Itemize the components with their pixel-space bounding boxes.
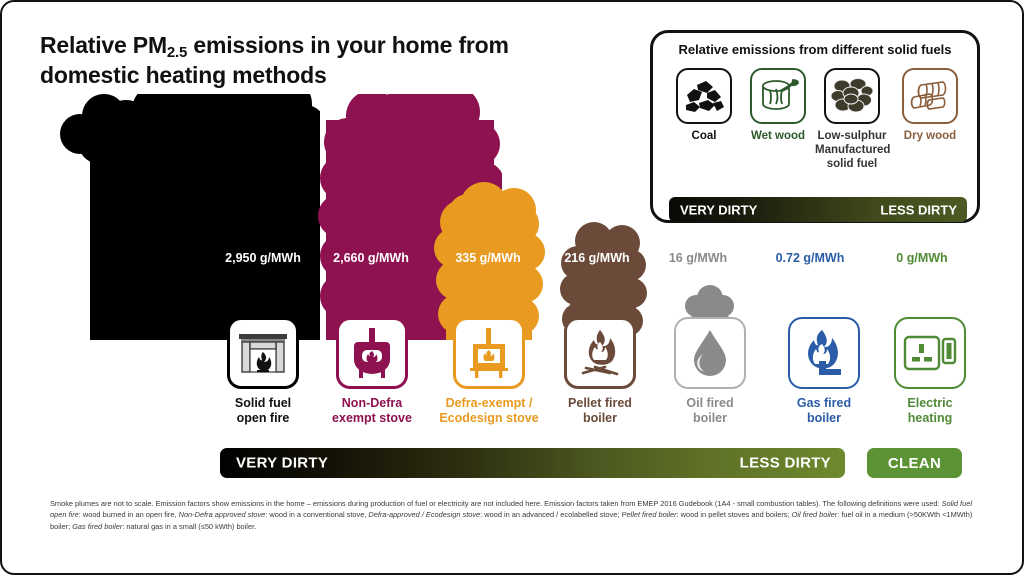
label-line2: boiler (693, 411, 727, 425)
footnote-i2: Non-Defra approved stove (179, 510, 266, 519)
legend-label-wet-wood: Wet wood (741, 130, 815, 144)
legend-very-dirty-label: VERY DIRTY (680, 202, 757, 217)
wet-log-icon (757, 77, 799, 115)
value-open-fire: 2,950 g/MWh (220, 251, 306, 265)
appliance-label-ecodesign: Defra-exempt / Ecodesign stove (430, 396, 548, 427)
scale-very-dirty-label: VERY DIRTY (236, 455, 328, 472)
label-line1: Dry wood (904, 130, 956, 142)
coal-tile (676, 68, 732, 124)
infographic-canvas: Relative PM2.5 emissions in your home fr… (0, 0, 1024, 575)
low-sulphur-tile (824, 68, 880, 124)
label-line1: Non-Defra (342, 396, 402, 410)
label-line1: Electric (907, 396, 952, 410)
plume-open-fire (30, 90, 320, 340)
oil-droplet-icon (690, 328, 730, 378)
fireplace-tile (227, 317, 299, 389)
label-line2: open fire (237, 411, 290, 425)
appliance-label-electric: Electric heating (890, 396, 970, 427)
label-line1: Defra-exempt / (446, 396, 533, 410)
footnote: Smoke plumes are not to scale. Emission … (50, 498, 978, 532)
legend-item-low-sulphur[interactable]: Low-sulphur Manufactured solid fuel (815, 68, 889, 171)
title-line1-post: emissions in your home from (187, 32, 509, 58)
label-line1: Solid fuel (235, 396, 291, 410)
value-non-defra: 2,660 g/MWh (328, 251, 414, 265)
fireplace-icon (237, 330, 289, 376)
label-line1: Pellet fired (568, 396, 632, 410)
wet-wood-tile (750, 68, 806, 124)
appliance-solid-fuel-open-fire[interactable]: Solid fuel open fire (223, 317, 303, 427)
appliance-non-defra-stove[interactable]: Non-Defra exempt stove (332, 317, 412, 427)
title-line1-pre: Relative PM (40, 32, 167, 58)
appliance-label-open-fire: Solid fuel open fire (223, 396, 303, 427)
oil-tile (674, 317, 746, 389)
label-line2: boiler (807, 411, 841, 425)
appliance-oil-boiler[interactable]: Oil fired boiler (670, 317, 750, 427)
legend-dirtiness-bar: VERY DIRTY LESS DIRTY (669, 197, 967, 222)
footnote-p1: Smoke plumes are not to scale. Emission … (50, 499, 942, 508)
gas-flame-icon (802, 328, 846, 378)
page-title: Relative PM2.5 emissions in your home fr… (40, 30, 600, 91)
campfire-icon (577, 328, 623, 378)
legend-item-coal[interactable]: Coal (667, 68, 741, 144)
stove-icon (348, 328, 396, 378)
appliance-label-non-defra: Non-Defra exempt stove (320, 396, 424, 427)
footnote-p3: : wood in a conventional stove, (265, 510, 368, 519)
appliance-pellet-boiler[interactable]: Pellet fired boiler (560, 317, 640, 427)
label-line2: Manufactured (815, 144, 890, 156)
coal-lumps-icon (683, 79, 725, 113)
label-line1: Wet wood (751, 130, 805, 142)
footnote-p7: : natural gas in a small (≤50 kWth) boil… (122, 522, 256, 531)
legend-item-wet-wood[interactable]: Wet wood (741, 68, 815, 144)
label-line2: heating (908, 411, 952, 425)
ecodesign-stove-icon (465, 328, 513, 378)
ecodesign-stove-tile (453, 317, 525, 389)
legend-item-dry-wood[interactable]: Dry wood (893, 68, 967, 144)
appliance-label-gas: Gas fired boiler (784, 396, 864, 427)
label-line2: exempt stove (332, 411, 412, 425)
appliance-gas-boiler[interactable]: Gas fired boiler (784, 317, 864, 427)
appliance-electric-heating[interactable]: Electric heating (890, 317, 970, 427)
appliance-label-oil: Oil fired boiler (670, 396, 750, 427)
label-line1: Low-sulphur (818, 130, 887, 142)
footnote-i6: Gas fired boiler (72, 522, 122, 531)
label-line2: boiler (583, 411, 617, 425)
dry-wood-tile (902, 68, 958, 124)
label-line1: Oil fired (686, 396, 733, 410)
value-ecodesign: 335 g/MWh (445, 251, 531, 265)
dirtiness-scale-bar: VERY DIRTY LESS DIRTY (220, 448, 845, 478)
appliance-label-pellet: Pellet fired boiler (550, 396, 650, 427)
title-subscript: 2.5 (167, 44, 187, 61)
scale-less-dirty-label: LESS DIRTY (740, 455, 831, 472)
footnote-p5: : wood in pellet stoves and boilers; (677, 510, 792, 519)
legend-label-dry-wood: Dry wood (893, 130, 967, 144)
legend-label-coal: Coal (667, 130, 741, 144)
legend-label-low-sulphur: Low-sulphur Manufactured solid fuel (815, 130, 889, 171)
appliance-ecodesign-stove[interactable]: Defra-exempt / Ecodesign stove (449, 317, 529, 427)
footnote-i5: Oil fired boiler (792, 510, 838, 519)
label-line1: Coal (692, 130, 717, 142)
legend-less-dirty-label: LESS DIRTY (880, 202, 957, 217)
footnote-i3: Defra-approved / Ecodesign stove (368, 510, 480, 519)
dry-logs-icon (909, 79, 951, 113)
legend-title: Relative emissions from different solid … (653, 42, 977, 57)
footnote-p2: : wood burned in an open fire, (79, 510, 179, 519)
footnote-p4: : wood in an advanced / ecolabelled stov… (480, 510, 621, 519)
title-line2: domestic heating methods (40, 62, 327, 88)
socket-tile (894, 317, 966, 389)
gas-tile (788, 317, 860, 389)
footnote-i4: Pellet fired boiler (622, 510, 677, 519)
label-line2: Ecodesign stove (439, 411, 538, 425)
power-socket-icon (903, 331, 957, 375)
briquettes-icon (831, 78, 873, 114)
clean-badge: CLEAN (867, 448, 962, 478)
legend-panel: Relative emissions from different solid … (650, 30, 980, 223)
campfire-tile (564, 317, 636, 389)
stove-tile (336, 317, 408, 389)
value-electric: 0 g/MWh (842, 251, 1002, 265)
label-line3: solid fuel (827, 158, 877, 170)
label-line1: Gas fired (797, 396, 851, 410)
